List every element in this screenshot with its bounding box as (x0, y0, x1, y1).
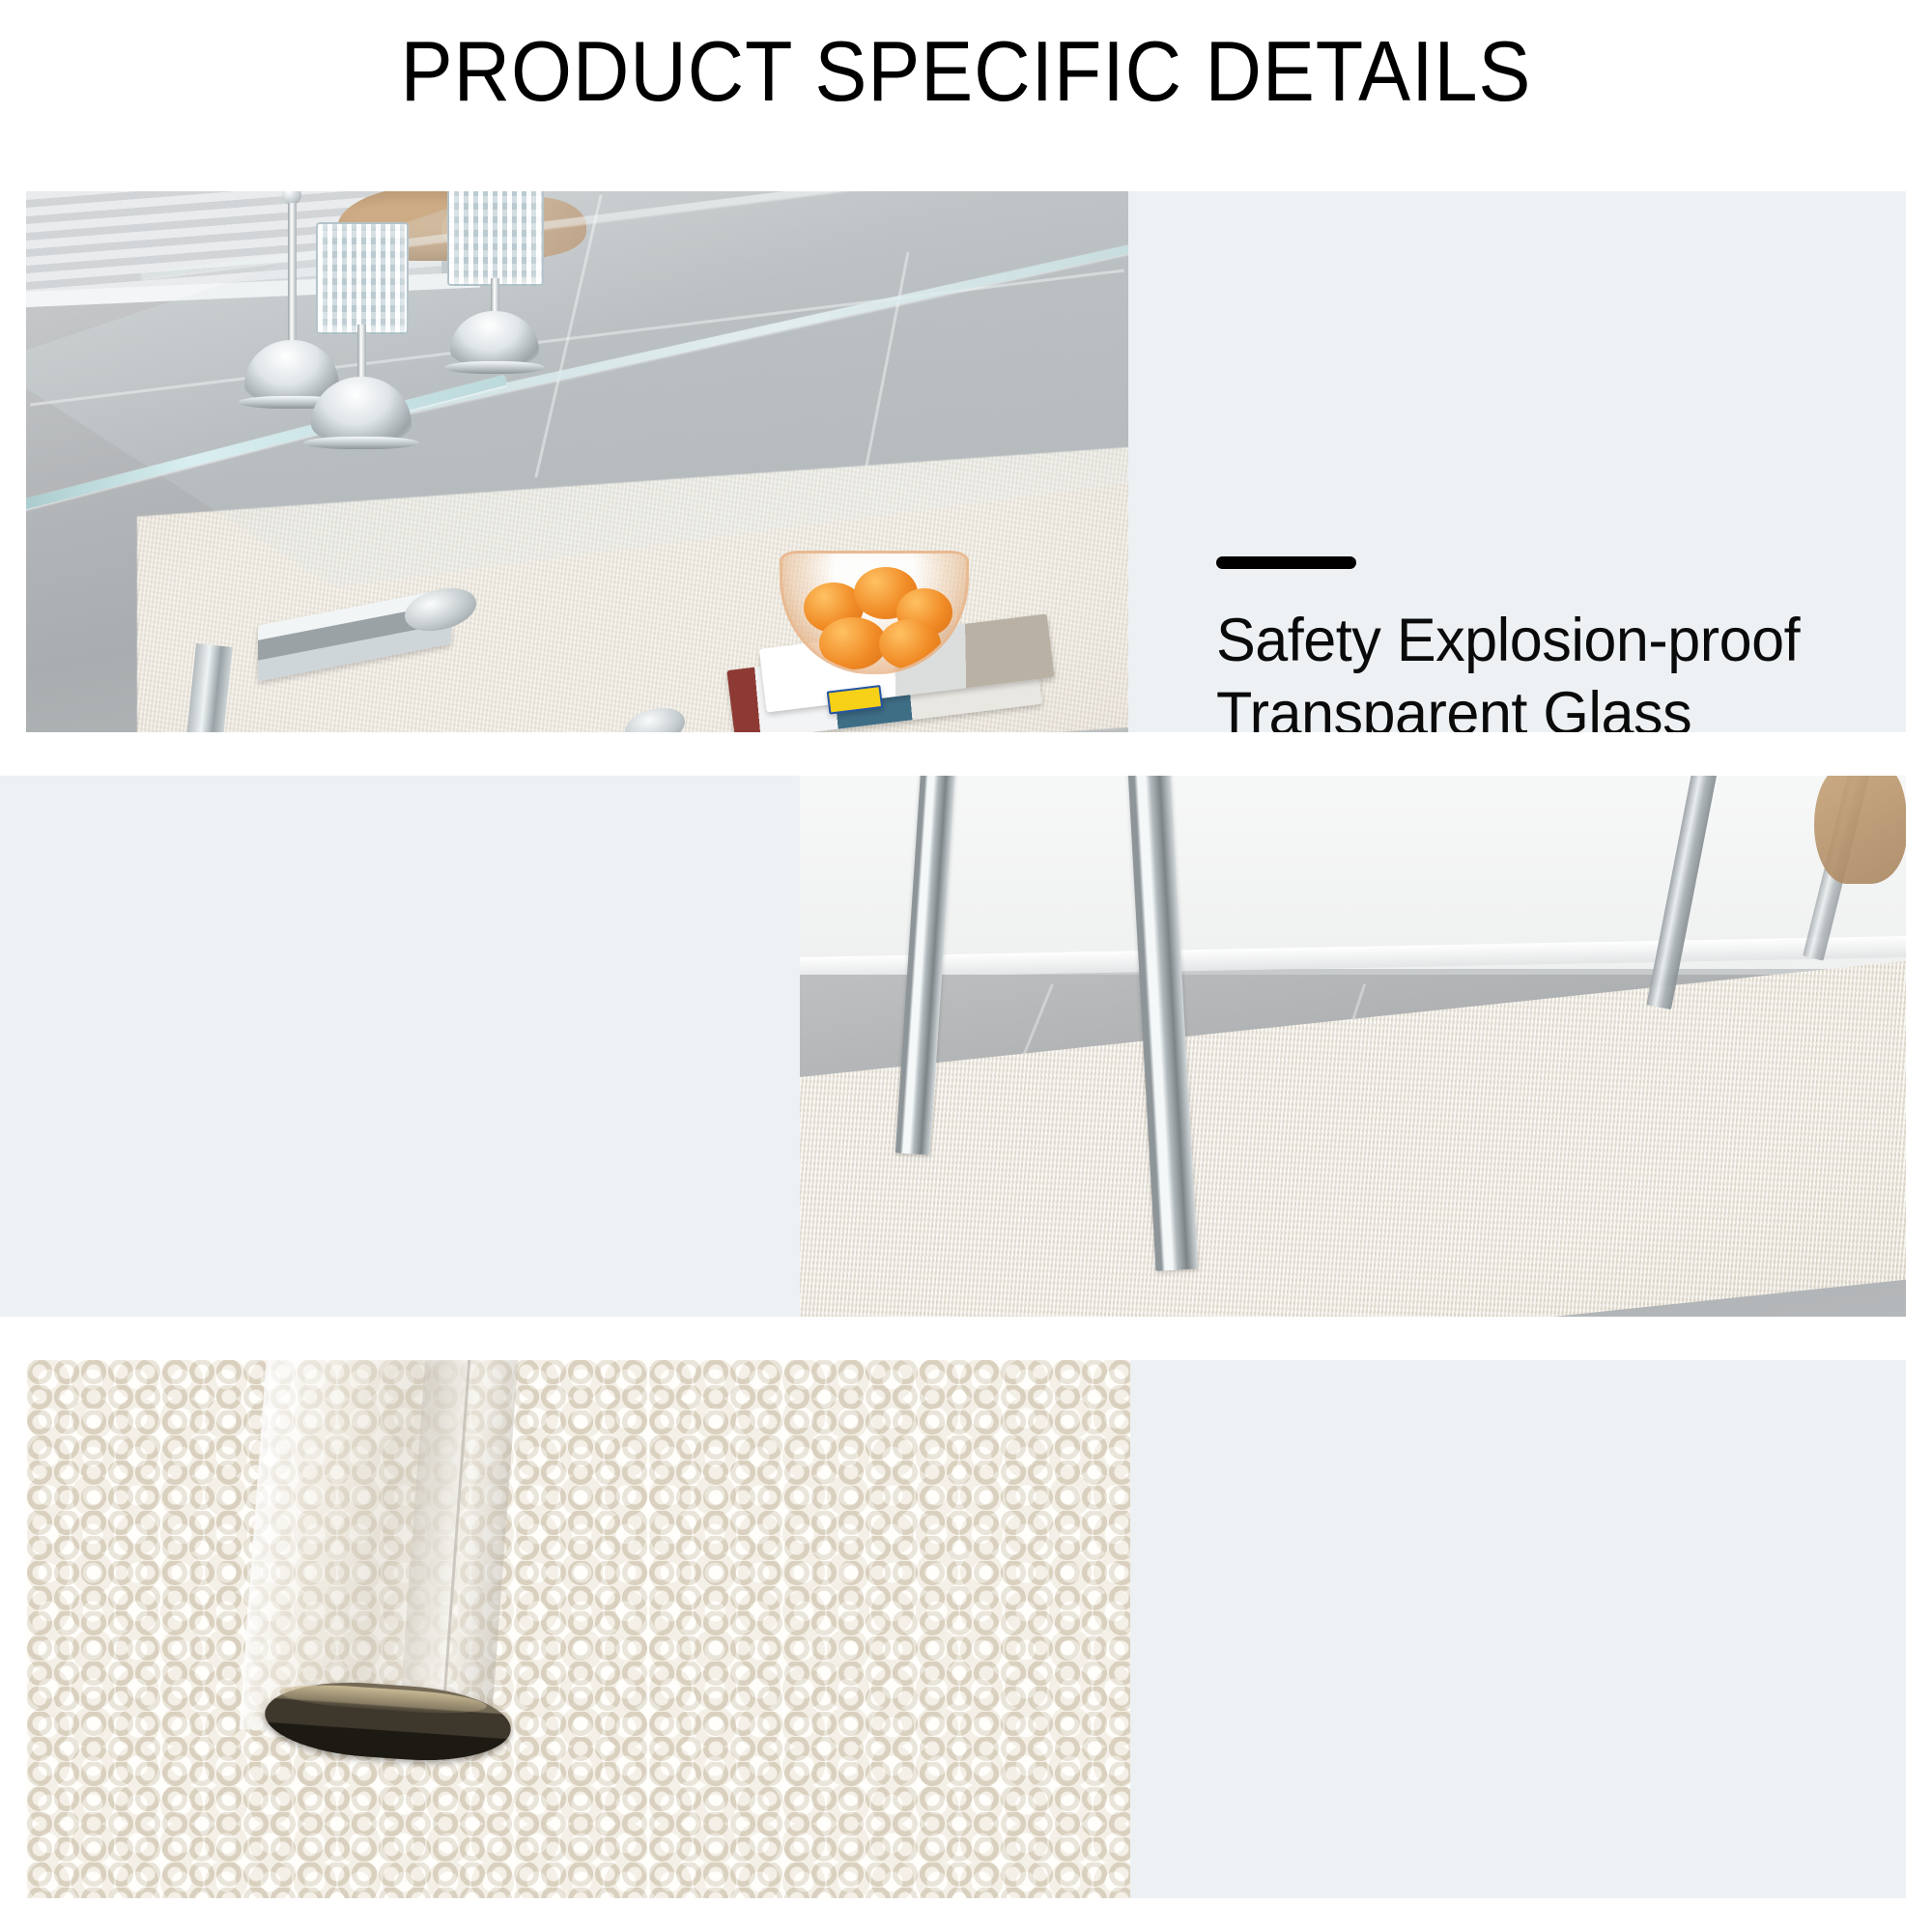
page-title: PRODUCT SPECIFIC DETAILS (77, 29, 1855, 114)
feature-photo-metal-support-leg (800, 776, 1906, 1317)
orange-fruit (879, 619, 941, 669)
accent-rule-icon (1216, 556, 1356, 569)
curtain (1814, 776, 1906, 884)
orange-fruit (819, 617, 887, 669)
feature-photo-non-slip-mat (26, 1360, 1130, 1898)
feature-caption-safety-glass: Safety Explosion-proof Transparent Glass (1216, 556, 1854, 732)
knit-rug-texture-overlay (26, 1360, 1130, 1898)
crystal-candle-holder (441, 191, 548, 400)
crystal-candle-holder (308, 197, 414, 487)
feature-panel-metal-support-leg: Metal Support Leg Stable & Durable (0, 776, 1906, 1317)
feature-caption-line-1: Safety Explosion-proof (1216, 604, 1834, 677)
feature-photo-safety-glass (26, 191, 1128, 732)
feature-caption-line-2: Transparent Glass (1216, 677, 1834, 732)
feature-panel-safety-glass: Safety Explosion-proof Transparent Glass (26, 191, 1906, 732)
feature-panel-non-slip-mat: Non-slip Bottom Mat (26, 1360, 1906, 1898)
